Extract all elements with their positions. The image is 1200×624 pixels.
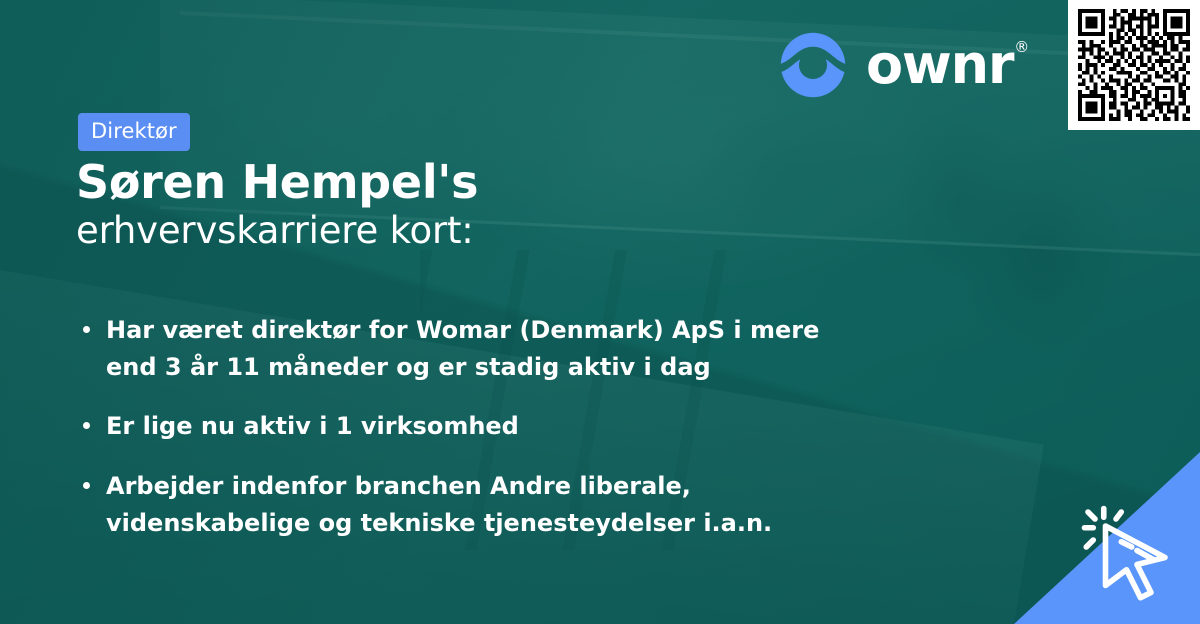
business-career-card: ownr® [0,0,1200,624]
bullet-dot-icon [83,422,90,429]
list-item-text: Er lige nu aktiv i 1 virksomhed [106,412,519,440]
wordmark-text: ownr [866,33,1013,96]
list-item: Arbejder indenfor branchen Andre liberal… [78,468,868,542]
page-title: Søren Hempel's [76,155,478,209]
qr-code-panel[interactable] [1068,0,1200,130]
bullet-dot-icon [83,326,90,333]
page-subtitle: erhvervskarriere kort: [76,209,474,253]
role-badge: Direktør [78,113,190,151]
ownr-wordmark: ownr® [866,38,1029,92]
ownr-circle-logo-icon [778,30,848,100]
bullet-dot-icon [83,482,90,489]
registered-trademark-icon: ® [1014,40,1029,55]
click-cursor-icon [1074,498,1186,610]
list-item-text: Har været direktør for Womar (Denmark) A… [106,316,819,381]
list-item: Er lige nu aktiv i 1 virksomhed [78,408,868,445]
qr-code [1078,9,1190,121]
list-item: Har været direktør for Womar (Denmark) A… [78,312,868,386]
ownr-logo[interactable]: ownr® [778,30,1029,100]
list-item-text: Arbejder indenfor branchen Andre liberal… [106,472,772,537]
career-facts-list: Har været direktør for Womar (Denmark) A… [78,312,868,542]
